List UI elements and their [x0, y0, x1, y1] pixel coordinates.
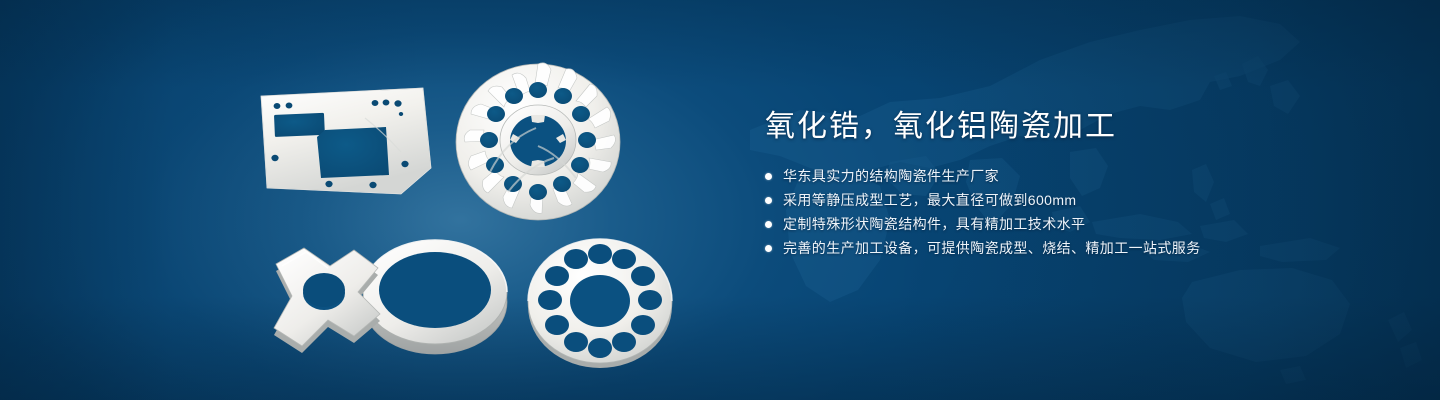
- bullet-dot-icon: [765, 245, 772, 252]
- hero-banner: 氧化锆，氧化铝陶瓷加工 华东具实力的结构陶瓷件生产厂家 采用等静压成型工艺，最大…: [0, 0, 1440, 400]
- list-item: 采用等静压成型工艺，最大直径可做到600mm: [765, 188, 1385, 212]
- list-item-label: 定制特殊形状陶瓷结构件，具有精加工技术水平: [783, 212, 1085, 236]
- bullet-dot-icon: [765, 197, 772, 204]
- list-item-label: 华东具实力的结构陶瓷件生产厂家: [783, 164, 999, 188]
- banner-copy: 氧化锆，氧化铝陶瓷加工 华东具实力的结构陶瓷件生产厂家 采用等静压成型工艺，最大…: [765, 108, 1385, 260]
- bullet-dot-icon: [765, 173, 772, 180]
- bullet-dot-icon: [765, 221, 772, 228]
- list-item: 完善的生产加工设备，可提供陶瓷成型、烧结、精加工一站式服务: [765, 236, 1385, 260]
- page-title: 氧化锆，氧化铝陶瓷加工: [765, 108, 1385, 146]
- list-item-label: 完善的生产加工设备，可提供陶瓷成型、烧结、精加工一站式服务: [783, 236, 1201, 260]
- list-item: 定制特殊形状陶瓷结构件，具有精加工技术水平: [765, 212, 1385, 236]
- list-item: 华东具实力的结构陶瓷件生产厂家: [765, 164, 1385, 188]
- list-item-label: 采用等静压成型工艺，最大直径可做到600mm: [783, 188, 1076, 212]
- feature-list: 华东具实力的结构陶瓷件生产厂家 采用等静压成型工艺，最大直径可做到600mm 定…: [765, 164, 1385, 260]
